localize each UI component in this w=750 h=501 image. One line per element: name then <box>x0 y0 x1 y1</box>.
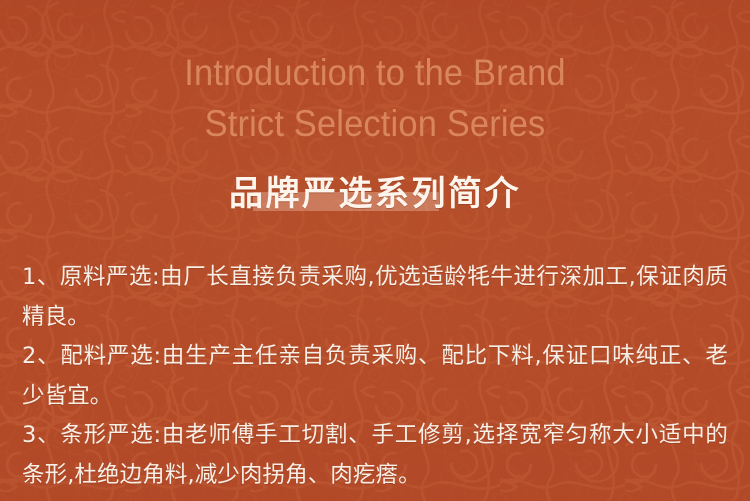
chinese-title: 品牌严选系列简介 <box>229 172 521 216</box>
english-title: Introduction to the Brand Strict Selecti… <box>26 47 724 149</box>
chinese-title-container: 品牌严选系列简介 <box>0 172 750 218</box>
english-title-line-2: Strict Selection Series <box>26 98 724 149</box>
body-copy: 1、原料严选:由厂长直接负责采购,优选适龄牦牛进行深加工,保证肉质精良。 2、配… <box>22 258 728 495</box>
paragraph-item: 1、原料严选:由厂长直接负责采购,优选适龄牦牛进行深加工,保证肉质精良。 <box>22 258 728 337</box>
english-title-line-1: Introduction to the Brand <box>26 47 724 98</box>
paragraph-item: 3、条形严选:由老师傅手工切割、手工修剪,选择宽窄匀称大小适中的条形,杜绝边角料… <box>22 416 728 495</box>
brand-introduction-poster: Introduction to the Brand Strict Selecti… <box>0 0 750 501</box>
paragraph-item: 2、配料严选:由生产主任亲自负责采购、配比下料,保证口味纯正、老少皆宜。 <box>22 337 728 416</box>
poster-content: Introduction to the Brand Strict Selecti… <box>0 0 750 501</box>
